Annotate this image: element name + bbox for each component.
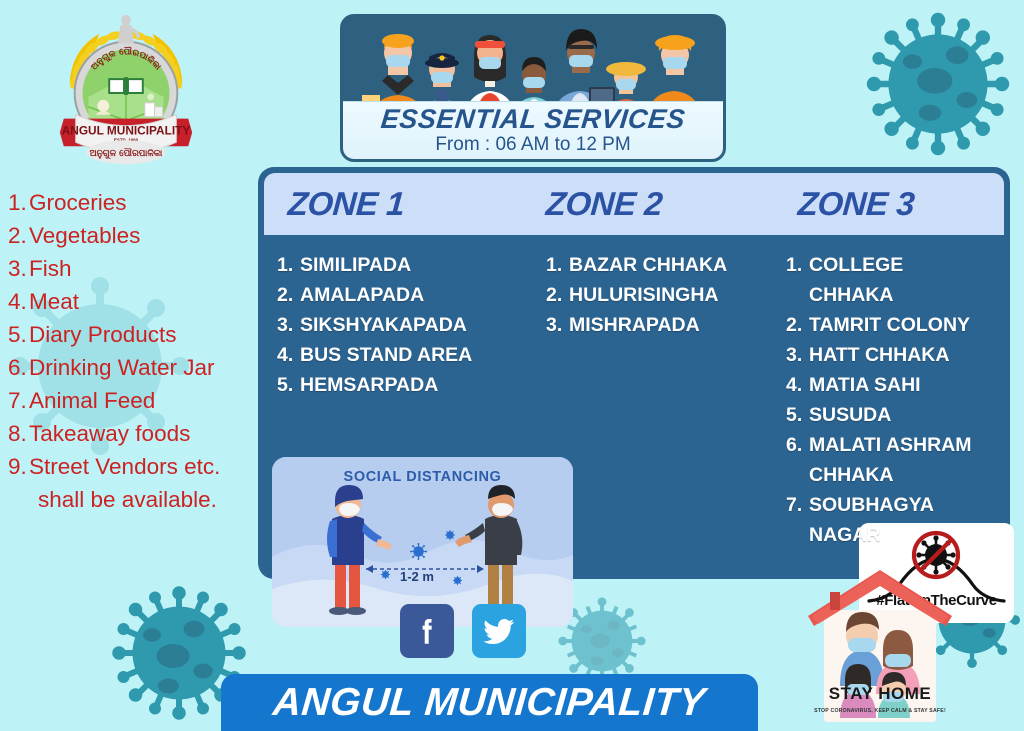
list-item: 6.Drinking Water Jar: [8, 351, 258, 384]
zone-3-title: ZONE 3: [769, 185, 1006, 223]
social-distancing-card: SOCIAL DISTANCING 1-2 m: [272, 457, 573, 627]
twitter-glyph: [481, 613, 517, 649]
essential-services-banner: ESSENTIAL SERVICES From : 06 AM to 12 PM: [340, 14, 726, 162]
social-distancing-distance: 1-2 m: [400, 569, 434, 584]
essential-services-hours: From : 06 AM to 12 PM: [435, 134, 630, 156]
zone-2-title: ZONE 2: [545, 185, 772, 223]
zone-item: 1.COLLEGE: [786, 250, 1004, 280]
footer-bar: ANGUL MUNICIPALITY: [221, 674, 758, 731]
zone-item-cont: NAGAR: [786, 520, 1004, 550]
zone-1-title: ZONE 1: [263, 185, 548, 223]
footer-title: ANGUL MUNICIPALITY: [271, 681, 707, 725]
zone-1-column: 1.SIMILIPADA 2.AMALAPADA 3.SIKSHYAKAPADA…: [264, 235, 534, 571]
zone-item: 3.MISHRAPADA: [546, 310, 770, 340]
essential-services-title: ESSENTIAL SERVICES: [380, 106, 687, 133]
facebook-glyph: [410, 614, 444, 648]
zones-panel: ZONE 1 ZONE 2 ZONE 3 1.SIMILIPADA 2.AMAL…: [258, 167, 1010, 579]
zone-item: 5.SUSUDA: [786, 400, 1004, 430]
zone-item: 3.HATT CHHAKA: [786, 340, 1004, 370]
angul-municipality-logo: ଅନୁଗୁଳ ପୌରପାଳିକା ANGUL MUNICIPALITY ESTD…: [42, 12, 210, 170]
list-item: 8.Takeaway foods: [8, 417, 258, 450]
essential-services-textbox: ESSENTIAL SERVICES From : 06 AM to 12 PM: [343, 101, 723, 159]
zone-item: 1.SIMILIPADA: [277, 250, 534, 280]
list-item: 2.Vegetables: [8, 219, 258, 252]
list-item: 1.Groceries: [8, 186, 258, 219]
list-item: 9.Street Vendors etc.: [8, 450, 258, 483]
zone-item-cont: CHHAKA: [786, 280, 1004, 310]
stay-home-title: STAY HOME: [800, 684, 960, 704]
list-item: 4.Meat: [8, 285, 258, 318]
zone-item: 4.BUS STAND AREA: [277, 340, 534, 370]
zone-3-column: 1.COLLEGE CHHAKA 2.TAMRIT COLONY 3.HATT …: [770, 235, 1004, 571]
facebook-icon[interactable]: [400, 604, 454, 658]
zones-body: 1.SIMILIPADA 2.AMALAPADA 3.SIKSHYAKAPADA…: [264, 235, 1004, 571]
zone-item: 3.SIKSHYAKAPADA: [277, 310, 534, 340]
list-item: 5.Diary Products: [8, 318, 258, 351]
zone-2-column: 1.BAZAR CHHAKA 2.HULURISINGHA 3.MISHRAPA…: [534, 235, 770, 571]
list-item: 3.Fish: [8, 252, 258, 285]
logo-banner-text: ANGUL MUNICIPALITY: [62, 123, 191, 137]
svg-text:ଅନୁଗୁଳ ପୌରପାଳିକା: ଅନୁଗୁଳ ପୌରପାଳିକା: [90, 147, 163, 160]
stay-home-subtitle: STOP CORONAVIRUS, KEEP CALM & STAY SAFE!: [800, 708, 960, 714]
zone-item: 2.AMALAPADA: [277, 280, 534, 310]
zone-item: 5.HEMSARPADA: [277, 370, 534, 400]
twitter-icon[interactable]: [472, 604, 526, 658]
stay-home-card: STAY HOME STOP CORONAVIRUS, KEEP CALM & …: [800, 566, 960, 724]
zone-item: 2.HULURISINGHA: [546, 280, 770, 310]
zones-header-row: ZONE 1 ZONE 2 ZONE 3: [264, 173, 1004, 235]
zone-item: 4.MATIA SAHI: [786, 370, 1004, 400]
zone-item: 2.TAMRIT COLONY: [786, 310, 1004, 340]
zone-item: 7.SOUBHAGYA: [786, 490, 1004, 520]
virus-decor-top-right: [858, 4, 1018, 164]
list-footnote: shall be available.: [8, 483, 258, 516]
essential-items-list: 1.Groceries 2.Vegetables 3.Fish 4.Meat 5…: [8, 186, 258, 516]
social-links: [400, 604, 526, 658]
list-item: 7.Animal Feed: [8, 384, 258, 417]
zone-item: 6.MALATI ASHRAM: [786, 430, 1004, 460]
zone-item-cont: CHHAKA: [786, 460, 1004, 490]
zone-item: 1.BAZAR CHHAKA: [546, 250, 770, 280]
social-distancing-title: SOCIAL DISTANCING: [272, 469, 573, 485]
